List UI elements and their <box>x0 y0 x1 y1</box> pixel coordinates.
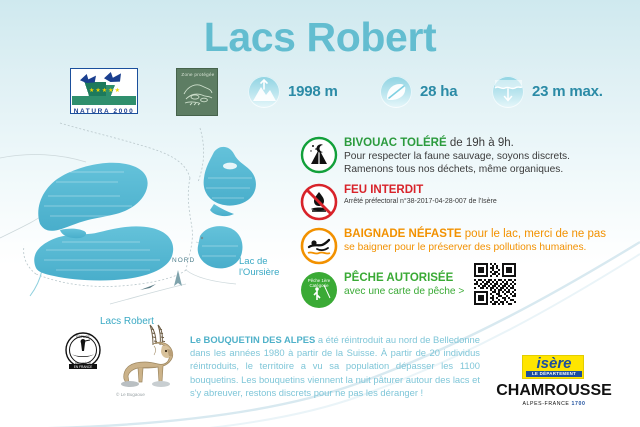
natura-ground <box>72 96 136 105</box>
map-label-line2: l'Oursière <box>239 267 279 278</box>
zone-map-sketch-icon <box>182 80 214 108</box>
map-label-line1: Lac de <box>239 256 268 267</box>
rule-baignade-rest: pour le lac, merci de ne pas <box>462 228 606 240</box>
chamrousse-name: CHAMROUSSE <box>484 382 624 400</box>
rule-feu-strong: FEU INTERDIT <box>344 184 423 196</box>
rule-peche-strong: PÊCHE AUTORISÉE <box>344 272 453 284</box>
rule-peche: Pêche 1ère Catégorie PÊCHE AUTORISÉE ave… <box>300 271 640 309</box>
rule-bivouac-strong: BIVOUAC TOLÉRÉ <box>344 137 447 149</box>
natura-label: NATURA 2000 <box>70 108 138 115</box>
rule-peche-line1: avec une carte de pêche > <box>344 285 464 298</box>
rule-peche-text: PÊCHE AUTORISÉE avec une carte de pêche … <box>344 271 464 298</box>
zone-protegee-label: Zone protégée <box>177 72 219 77</box>
mountain-altitude-icon <box>248 76 280 108</box>
rule-peche-row: PÊCHE AUTORISÉE avec une carte de pêche … <box>344 271 640 305</box>
ibex-credit: © Le Bugaoue <box>116 392 145 397</box>
no-fire-icon <box>300 183 338 221</box>
poster-root: Lacs Robert ★★★★★ NATURA 2000 Zone proté… <box>0 0 640 427</box>
map-label-lac-oursiere: Lac de l'Oursière <box>239 256 279 278</box>
poster-header: Lacs Robert ★★★★★ NATURA 2000 Zone proté… <box>0 0 640 124</box>
lakes-map: Lacs Robert Lac de l'Oursière NORD <box>0 118 300 328</box>
compass-needle <box>174 270 182 286</box>
rule-baignade-line1: se baigner pour le préserver des polluti… <box>344 241 640 254</box>
rule-feu-heading: FEU INTERDIT <box>344 183 640 197</box>
rule-baignade: BAIGNADE NÉFASTE pour le lac, merci de n… <box>300 227 640 265</box>
bouquetin-paragraph: Le BOUQUETIN DES ALPES a été réintroduit… <box>190 333 480 399</box>
svg-text:EN FRANCE: EN FRANCE <box>74 365 92 369</box>
tent-night-icon <box>300 136 338 174</box>
chamrousse-sub-text: ALPES-FRANCE <box>523 401 572 407</box>
isere-sub: LE DÉPARTEMENT <box>526 371 582 377</box>
stat-altitude-value: 1998 m <box>288 83 338 100</box>
natura-2000-logo: ★★★★★ NATURA 2000 <box>70 68 138 114</box>
stat-area-value: 28 ha <box>420 83 457 100</box>
rule-feu-reference: Arrêté préfectoral n°38-2017-04-28-007 d… <box>344 197 640 207</box>
isere-logo: isère LE DÉPARTEMENT <box>522 355 584 379</box>
svg-text:ESPACE: ESPACE <box>76 335 90 339</box>
fishing-allowed-icon: Pêche 1ère Catégorie <box>300 271 338 309</box>
rule-feu: FEU INTERDIT Arrêté préfectoral n°38-201… <box>300 183 640 221</box>
chamrousse-logo: CHAMROUSSE ALPES-FRANCE 1700 <box>484 382 624 407</box>
swimmer-icon <box>300 227 338 265</box>
rule-baignade-heading: BAIGNADE NÉFASTE pour le lac, merci de n… <box>344 227 640 241</box>
water-depth-icon <box>492 76 524 108</box>
rule-peche-heading: PÊCHE AUTORISÉE <box>344 271 464 285</box>
espace-protege-stamp: ESPACE PROTÉGÉ EN FRANCE <box>60 330 106 372</box>
bouquetin-strong: Le BOUQUETIN DES ALPES <box>190 334 315 345</box>
rule-bivouac-line1: Pour respecter la faune sauvage, soyons … <box>344 150 640 163</box>
map-label-north: NORD <box>172 257 195 264</box>
stat-depth-value: 23 m max. <box>532 83 603 100</box>
rule-baignade-strong: BAIGNADE NÉFASTE <box>344 228 462 240</box>
surface-area-icon <box>380 76 412 108</box>
ibex-illustration <box>112 322 190 392</box>
chamrousse-sub: ALPES-FRANCE 1700 <box>484 401 624 407</box>
chamrousse-year: 1700 <box>572 401 586 407</box>
eu-stars-icon: ★★★★★ <box>86 85 124 97</box>
page-title: Lacs Robert <box>0 12 640 62</box>
rule-bivouac-line2: Ramenons tous nos déchets, même organiqu… <box>344 163 640 176</box>
rules-list: BIVOUAC TOLÉRÉ de 19h à 9h. Pour respect… <box>300 136 640 315</box>
rule-bivouac-heading: BIVOUAC TOLÉRÉ de 19h à 9h. <box>344 136 640 150</box>
svg-text:Catégorie: Catégorie <box>309 283 329 288</box>
rule-bivouac-rest: de 19h à 9h. <box>447 137 514 149</box>
qr-code-peche[interactable] <box>474 263 516 305</box>
zone-protegee-logo: Zone protégée <box>176 68 218 116</box>
rule-bivouac: BIVOUAC TOLÉRÉ de 19h à 9h. Pour respect… <box>300 136 640 177</box>
